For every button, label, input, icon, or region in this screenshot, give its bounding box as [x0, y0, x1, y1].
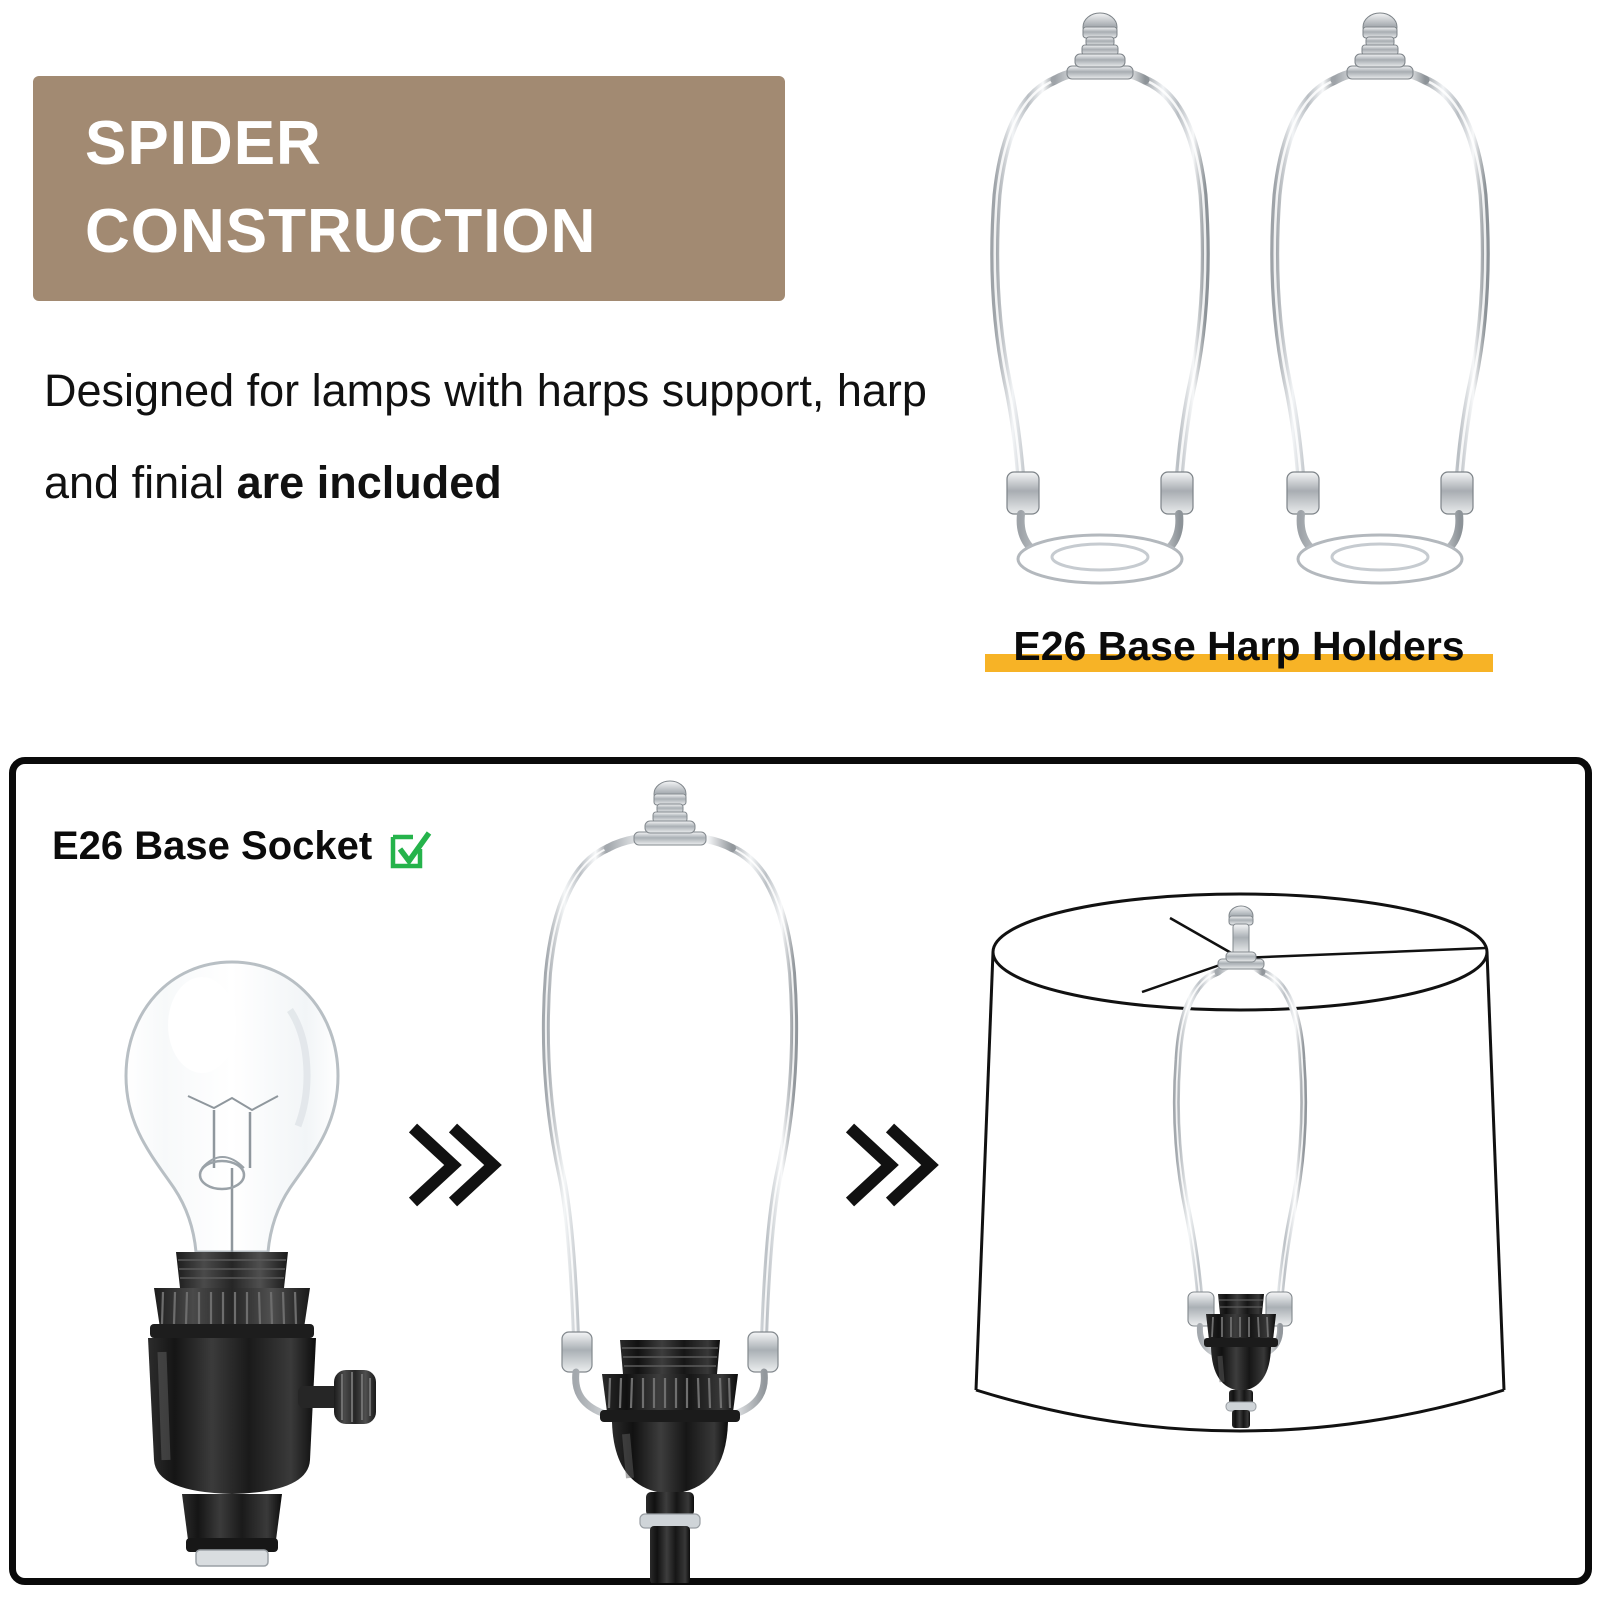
bulb-and-socket-image	[62, 900, 402, 1580]
harp-holder-left	[955, 10, 1245, 600]
harp-on-socket-image	[520, 778, 820, 1583]
top-section: SPIDER CONSTRUCTION Designed for lamps w…	[0, 0, 1600, 700]
harp-holders-label-text: E26 Base Harp Holders	[985, 623, 1493, 670]
harp-holders-label: E26 Base Harp Holders	[985, 608, 1505, 672]
banner-title-line-2: CONSTRUCTION	[85, 188, 785, 276]
lampshade-assembly-image	[930, 862, 1550, 1482]
e26-base-socket-label: E26 Base Socket	[52, 824, 432, 869]
banner-title-line-1: SPIDER	[85, 100, 785, 188]
lead-bold-text: are included	[237, 457, 502, 508]
infographic-page: SPIDER CONSTRUCTION Designed for lamps w…	[0, 0, 1600, 1600]
double-chevron-right-icon-2	[832, 1110, 942, 1220]
lead-description: Designed for lamps with harps support, h…	[44, 345, 974, 529]
title-banner: SPIDER CONSTRUCTION	[33, 76, 785, 301]
harp-holders-group	[955, 0, 1555, 610]
harp-holder-right	[1235, 10, 1525, 600]
double-chevron-right-icon-1	[395, 1110, 505, 1220]
e26-base-socket-text: E26 Base Socket	[52, 824, 372, 869]
green-check-box-icon	[388, 827, 432, 871]
